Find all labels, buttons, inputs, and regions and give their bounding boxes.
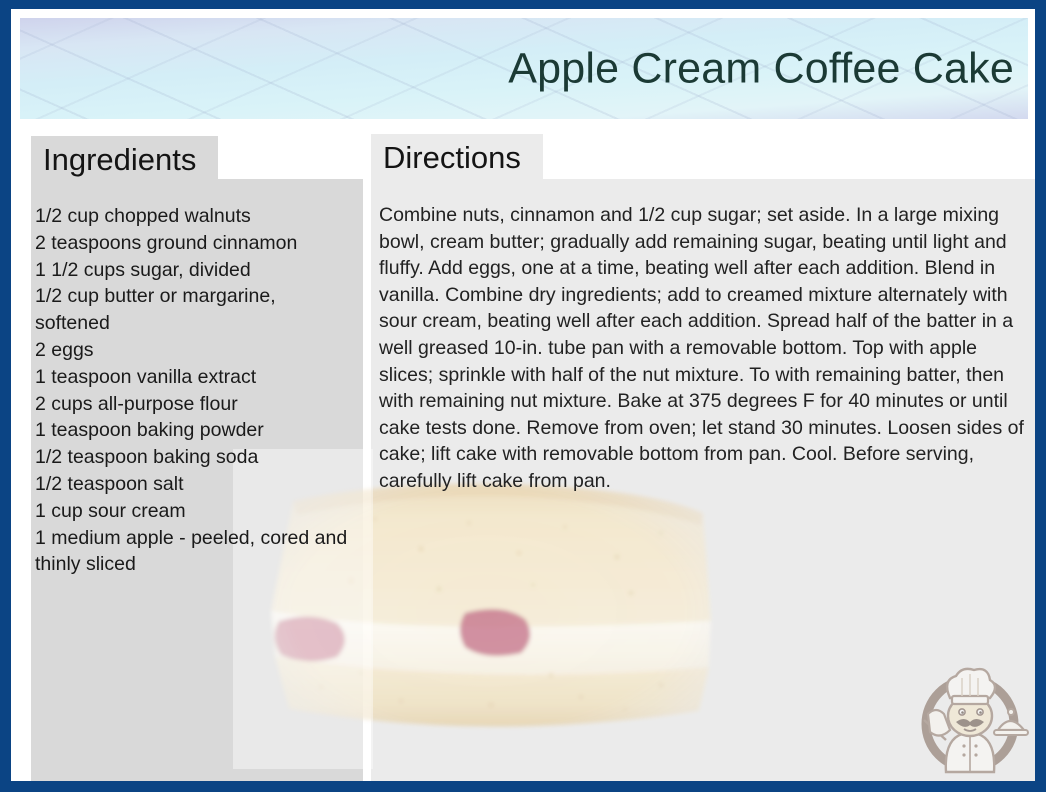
ingredients-list: 1/2 cup chopped walnuts2 teaspoons groun…: [35, 203, 353, 578]
ingredient-item: 1/2 teaspoon salt: [35, 471, 353, 498]
ingredient-item: 1 teaspoon vanilla extract: [35, 364, 353, 391]
recipe-card-root: Apple Cream Coffee Cake Ingredients 1/2 …: [0, 0, 1046, 792]
ingredient-item: 1/2 cup chopped walnuts: [35, 203, 353, 230]
recipe-page: Apple Cream Coffee Cake Ingredients 1/2 …: [11, 9, 1035, 781]
directions-heading: Directions: [371, 134, 543, 181]
ingredient-item: 1 1/2 cups sugar, divided: [35, 257, 353, 284]
ingredient-item: 1 medium apple - peeled, cored and thinl…: [35, 525, 353, 579]
ingredient-item: 2 eggs: [35, 337, 353, 364]
ingredient-item: 1/2 teaspoon baking soda: [35, 444, 353, 471]
ingredient-item: 1 cup sour cream: [35, 498, 353, 525]
ingredient-item: 2 teaspoons ground cinnamon: [35, 230, 353, 257]
page-title: Apple Cream Coffee Cake: [508, 47, 1014, 90]
chef-mascot-logo: [906, 654, 1034, 781]
ingredient-item: 2 cups all-purpose flour: [35, 391, 353, 418]
ingredient-item: 1/2 cup butter or margarine, softened: [35, 283, 353, 337]
ingredient-item: 1 teaspoon baking powder: [35, 417, 353, 444]
ingredients-heading: Ingredients: [31, 136, 218, 183]
directions-body: Combine nuts, cinnamon and 1/2 cup sugar…: [379, 202, 1029, 495]
header-banner: Apple Cream Coffee Cake: [20, 18, 1028, 119]
